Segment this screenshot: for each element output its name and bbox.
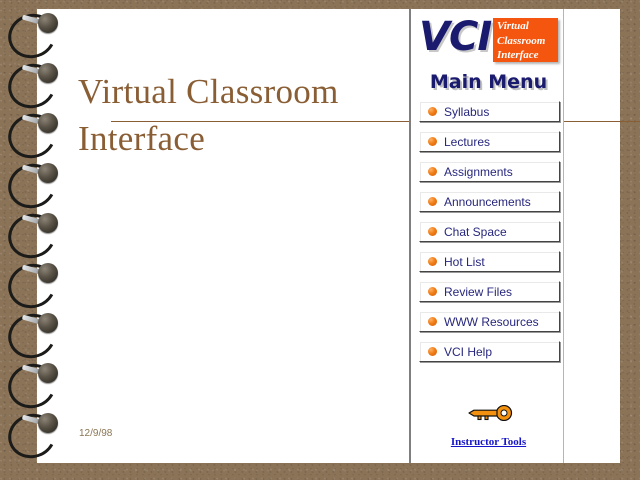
spiral-ring xyxy=(0,158,72,208)
vci-tagline-line-1: Virtual xyxy=(493,18,558,34)
orange-bullet-icon xyxy=(428,287,437,296)
menu-item-vci-help[interactable]: VCI Help xyxy=(419,341,560,362)
menu-item-syllabus[interactable]: Syllabus xyxy=(419,101,560,122)
instructor-tools-link[interactable]: Instructor Tools xyxy=(411,432,566,450)
menu-item-label: Lectures xyxy=(444,135,490,149)
page-title-line-2: Interface xyxy=(78,115,378,162)
spiral-ring xyxy=(0,208,72,258)
menu-item-label: Announcements xyxy=(444,195,531,209)
menu-item-assignments[interactable]: Assignments xyxy=(419,161,560,182)
menu-item-chat-space[interactable]: Chat Space xyxy=(419,221,560,242)
date-stamp: 12/9/98 xyxy=(79,428,112,439)
vci-tagline-box: Virtual Classroom Interface xyxy=(493,18,558,62)
orange-bullet-icon xyxy=(428,197,437,206)
vci-acronym: VCI xyxy=(419,15,491,59)
menu-item-announcements[interactable]: Announcements xyxy=(419,191,560,212)
menu-item-label: Syllabus xyxy=(444,105,489,119)
main-menu-heading: Main Menu xyxy=(411,71,566,93)
instructor-tools-label: Instructor Tools xyxy=(451,436,526,448)
menu-item-label: WWW Resources xyxy=(444,315,539,329)
spiral-ring xyxy=(0,58,72,108)
menu-item-hot-list[interactable]: Hot List xyxy=(419,251,560,272)
orange-bullet-icon xyxy=(428,137,437,146)
menu-item-review-files[interactable]: Review Files xyxy=(419,281,560,302)
spiral-binding xyxy=(0,0,72,480)
orange-bullet-icon xyxy=(428,227,437,236)
spiral-ring xyxy=(0,308,72,358)
key-icon[interactable] xyxy=(466,405,514,421)
vci-tagline-line-3: Interface xyxy=(493,48,558,63)
menu-item-label: Chat Space xyxy=(444,225,507,239)
menu-item-label: VCI Help xyxy=(444,345,492,359)
menu-item-www-resources[interactable]: WWW Resources xyxy=(419,311,560,332)
page-title-line-1: Virtual Classroom xyxy=(78,68,378,115)
menu-item-label: Review Files xyxy=(444,285,512,299)
notebook-page-screen: Virtual Classroom Interface 12/9/98 VCI … xyxy=(0,0,640,480)
spiral-ring xyxy=(0,108,72,158)
vci-logo: VCI Virtual Classroom Interface xyxy=(419,15,559,67)
menu-item-label: Hot List xyxy=(444,255,485,269)
orange-bullet-icon xyxy=(428,107,437,116)
spiral-ring xyxy=(0,358,72,408)
orange-bullet-icon xyxy=(428,257,437,266)
menu-button-list: Syllabus Lectures Assignments Announceme… xyxy=(419,101,560,371)
spiral-ring xyxy=(0,258,72,308)
spiral-ring xyxy=(0,8,72,58)
spiral-ring xyxy=(0,408,72,458)
main-menu-panel: VCI Virtual Classroom Interface Main Men… xyxy=(409,9,564,463)
menu-item-lectures[interactable]: Lectures xyxy=(419,131,560,152)
menu-item-label: Assignments xyxy=(444,165,513,179)
page-title: Virtual Classroom Interface xyxy=(78,68,378,162)
vci-tagline-line-2: Classroom xyxy=(493,34,558,49)
orange-bullet-icon xyxy=(428,167,437,176)
orange-bullet-icon xyxy=(428,317,437,326)
orange-bullet-icon xyxy=(428,347,437,356)
